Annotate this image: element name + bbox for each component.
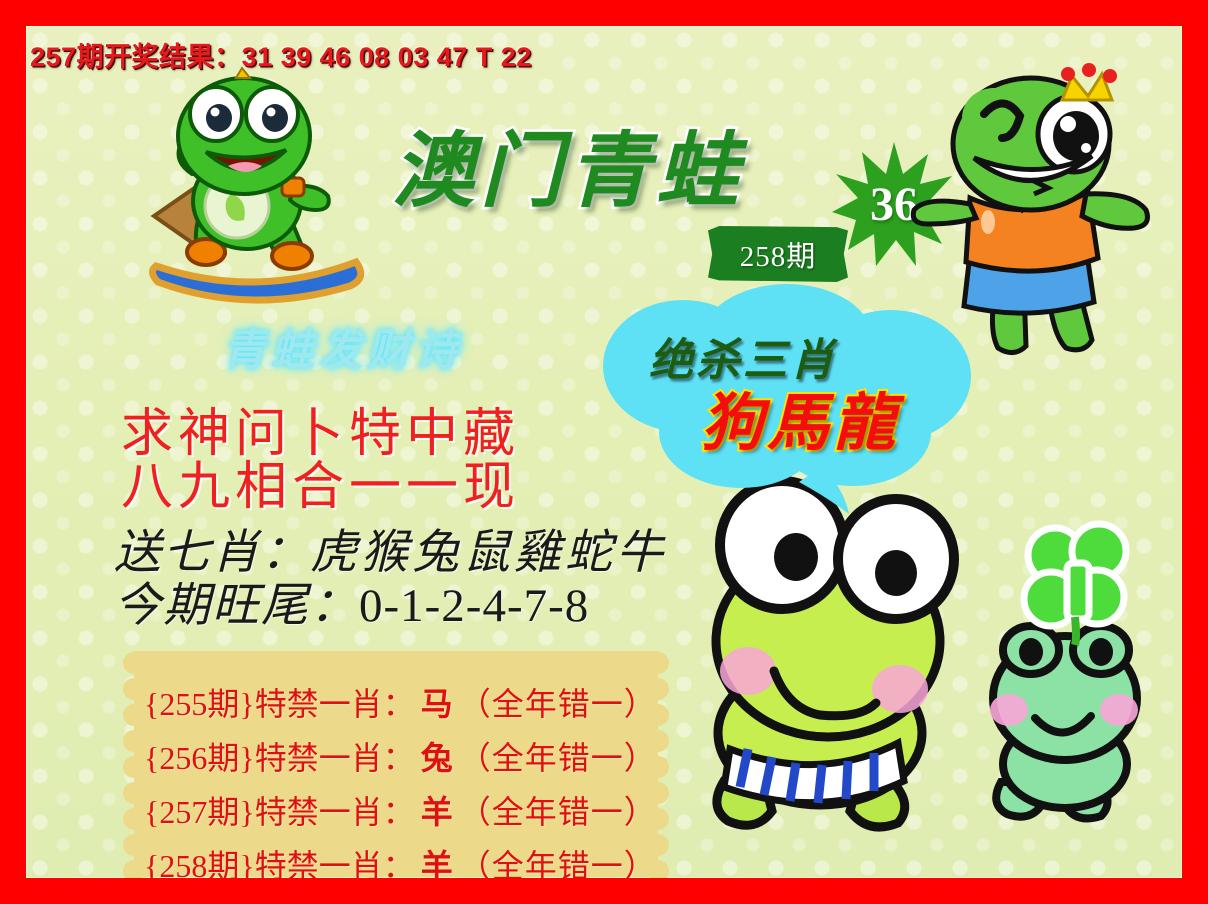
history-note: （全年错一）	[459, 848, 657, 878]
history-note: （全年错一）	[459, 740, 657, 776]
skating-frog-mascot	[144, 66, 374, 301]
history-note: （全年错一）	[459, 686, 657, 722]
four-leaf-clover-icon	[1011, 511, 1141, 646]
poem-line-2: 八九相合一一现	[121, 444, 520, 519]
draw-result-bar: 257期开奖结果：31 39 46 08 03 47 T 22	[26, 35, 1182, 69]
history-row: {257期}特禁一肖：羊（全年错一）	[144, 787, 664, 835]
history-band: {255期}特禁一肖：马（全年错一） {256期}特禁一肖：兔（全年错一） {2…	[118, 651, 674, 877]
history-animal: 羊	[415, 794, 459, 830]
poster-page: 257期开奖结果：31 39 46 08 03 47 T 22	[26, 26, 1182, 878]
history-issue: {255期}特禁一肖：	[144, 686, 415, 722]
page-title-text: 澳门青蛙	[392, 126, 744, 217]
history-row: {255期}特禁一肖：马（全年错一）	[144, 679, 664, 727]
page-title: 澳门青蛙	[392, 130, 744, 214]
history-issue: {256期}特禁一肖：	[144, 740, 415, 776]
hot-tail-value: 0-1-2-4-7-8	[359, 580, 589, 632]
history-animal: 兔	[415, 740, 459, 776]
lottery-poster: 257期开奖结果：31 39 46 08 03 47 T 22	[0, 0, 1208, 904]
poem-heading: 青蛙发财诗	[222, 314, 462, 378]
history-animal: 羊	[415, 848, 459, 878]
kill-zodiac-value: 狗馬龍	[701, 372, 899, 462]
crowned-frog-mascot	[926, 76, 1182, 368]
history-note: （全年错一）	[459, 794, 657, 830]
speech-bubble: 绝杀三肖 狗馬龍	[591, 280, 981, 500]
history-row: {256期}特禁一肖：兔（全年错一）	[144, 733, 664, 781]
issue-label: 258期	[740, 233, 817, 275]
draw-result-text: 257期开奖结果：31 39 46 08 03 47 T 22	[30, 42, 532, 72]
hot-tail-line: 今期旺尾：0-1-2-4-7-8	[114, 566, 589, 635]
history-row: {258期}特禁一肖：羊（全年错一）	[144, 841, 664, 878]
history-rows: {255期}特禁一肖：马（全年错一） {256期}特禁一肖：兔（全年错一） {2…	[118, 651, 674, 877]
history-issue: {257期}特禁一肖：	[144, 794, 415, 830]
issue-ribbon: 258期	[708, 226, 848, 282]
history-issue: {258期}特禁一肖：	[144, 848, 415, 878]
history-animal: 马	[415, 686, 459, 722]
hot-tail-label: 今期旺尾：	[114, 580, 359, 632]
